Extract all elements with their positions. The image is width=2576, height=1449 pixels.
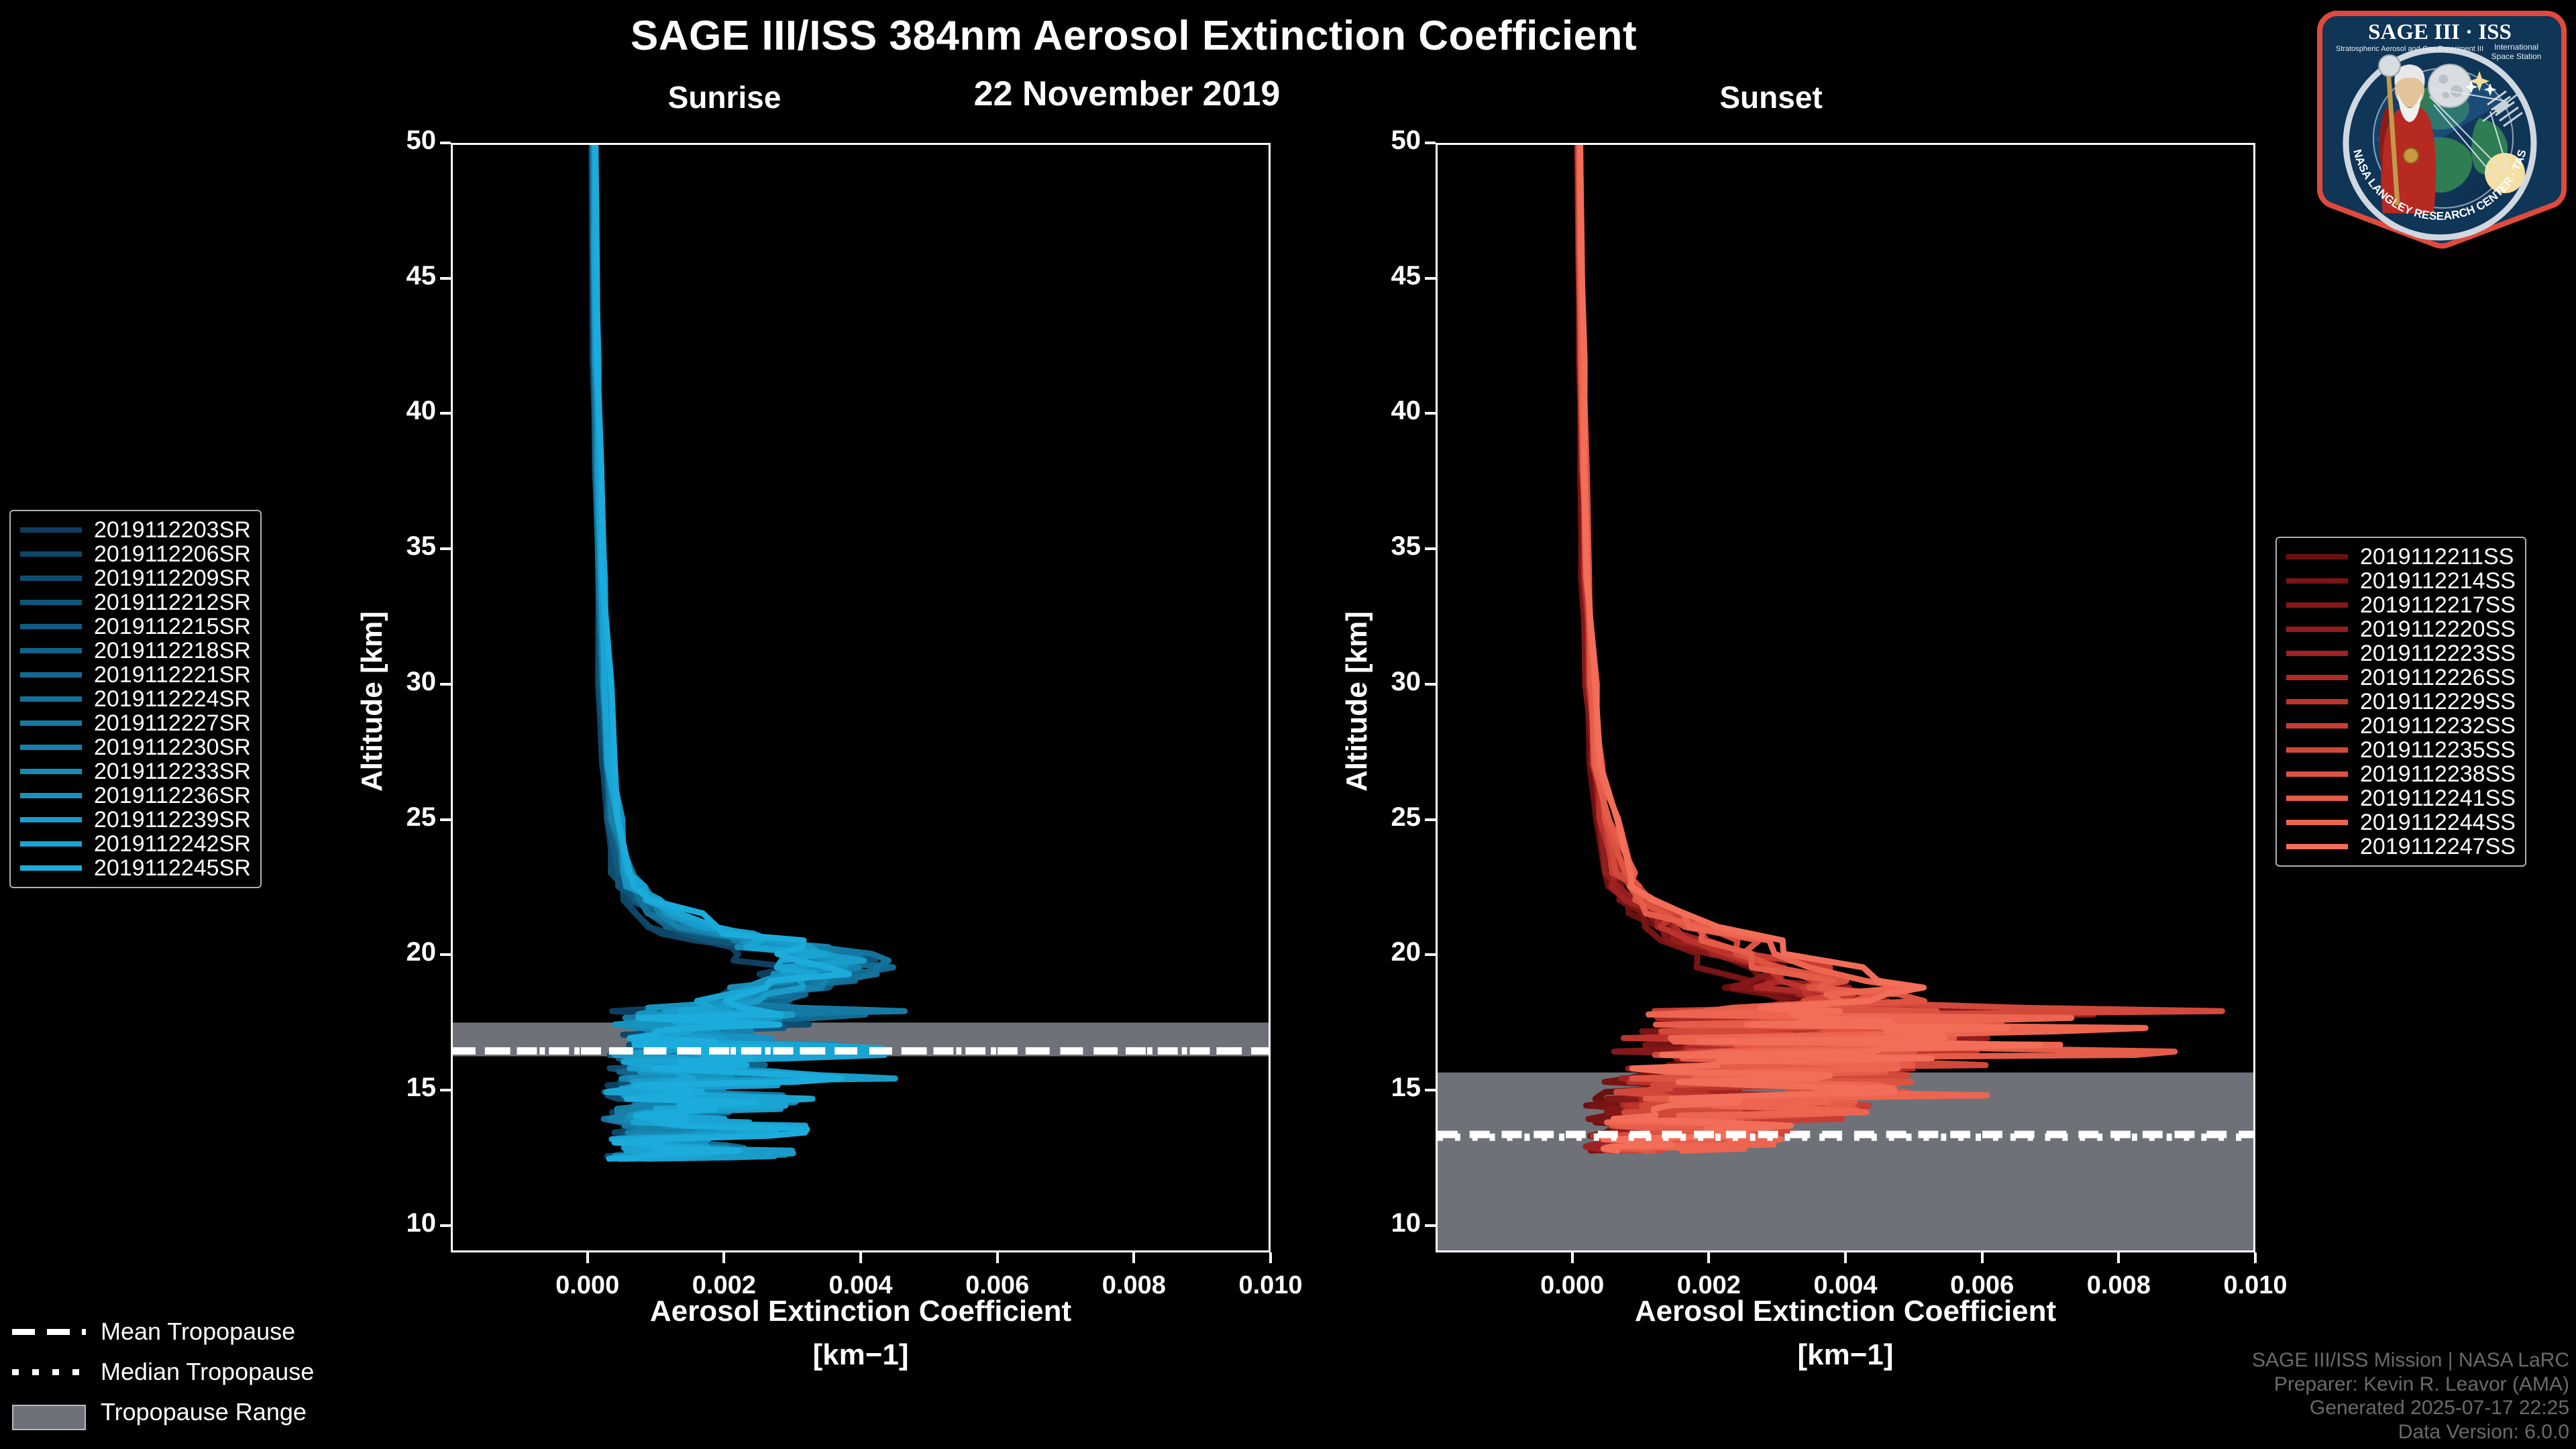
legend-color-swatch (2286, 554, 2348, 559)
sunrise-legend-item[interactable]: 2019112242SR (20, 832, 251, 856)
sunrise-legend[interactable]: 2019112203SR2019112206SR2019112209SR2019… (9, 510, 262, 888)
legend-color-swatch (2286, 747, 2348, 753)
sunset-legend-item[interactable]: 2019112244SS (2286, 810, 2516, 835)
legend-item-label: 2019112206SR (94, 541, 251, 568)
sunset-y-tick-mark (1425, 818, 1436, 821)
legend-item-label: 2019112226SS (2360, 665, 2516, 691)
sunset-y-tick-mark (1425, 142, 1436, 144)
sunrise-legend-item[interactable]: 2019112245SR (20, 856, 251, 880)
sunrise-legend-item[interactable]: 2019112212SR (20, 590, 251, 614)
sunrise-legend-item[interactable]: 2019112215SR (20, 614, 251, 639)
sunrise-y-tick-label: 35 (356, 531, 436, 561)
sunrise-y-tick-mark (440, 412, 451, 415)
sunrise-x-tick-mark (722, 1252, 725, 1263)
sunrise-y-tick-mark (440, 277, 451, 280)
legend-color-swatch (2286, 651, 2348, 656)
sunrise-y-tick-mark (440, 142, 451, 144)
sunrise-y-tick-label: 45 (356, 261, 436, 291)
sunrise-y-tick-mark (440, 1089, 451, 1091)
legend-item-label: 2019112217SS (2360, 592, 2516, 619)
sunset-plot-panel (1436, 143, 2255, 1252)
legend-color-swatch (20, 696, 82, 702)
legend-item-label: 2019112235SS (2360, 737, 2516, 763)
sunset-plot-canvas (1438, 145, 2253, 1250)
sunset-legend-item[interactable]: 2019112247SS (2286, 835, 2516, 859)
sunset-y-tick-label: 20 (1340, 937, 1421, 967)
logo-subtitle-right-2: Space Station (2491, 52, 2542, 61)
legend-color-swatch (20, 527, 82, 533)
sunset-legend-item[interactable]: 2019112238SS (2286, 762, 2516, 786)
sunset-legend-item[interactable]: 2019112226SS (2286, 665, 2516, 690)
sage-iii-iss-mission-patch-logo: SAGE III · ISS Stratospheric Aerosol and… (2312, 4, 2568, 250)
sunrise-plot-canvas (453, 145, 1269, 1250)
sunset-y-tick-label: 45 (1340, 261, 1421, 291)
sunrise-y-tick-label: 50 (356, 125, 436, 156)
page-subtitle: 22 November 2019 (792, 74, 1462, 114)
legend-item-label: 2019112236SR (94, 783, 251, 809)
legend-item-label: 2019112247SS (2360, 834, 2516, 860)
legend-item-label: 2019112232SS (2360, 713, 2516, 739)
legend-color-swatch (20, 817, 82, 822)
legend-color-swatch (20, 745, 82, 750)
sunrise-y-tick-mark (440, 1224, 451, 1227)
legend-color-swatch (20, 841, 82, 847)
legend-item-label: 2019112242SR (94, 831, 251, 857)
legend-item-label: 2019112221SR (94, 662, 251, 688)
sunset-y-tick-label: 15 (1340, 1073, 1421, 1103)
sunset-legend[interactable]: 2019112211SS2019112214SS2019112217SS2019… (2275, 537, 2526, 867)
sunrise-x-tick-mark (1132, 1252, 1135, 1263)
legend-item-label: 2019112212SR (94, 590, 251, 616)
legend-color-swatch (2286, 578, 2348, 584)
tropopause-legend-swatch (12, 1403, 86, 1421)
sunrise-y-tick-mark (440, 818, 451, 821)
legend-item-label: 2019112215SR (94, 614, 251, 640)
sunset-legend-item[interactable]: 2019112214SS (2286, 569, 2516, 593)
sunset-y-tick-mark (1425, 953, 1436, 956)
sunset-y-tick-label: 50 (1340, 125, 1421, 156)
legend-color-swatch (2286, 771, 2348, 777)
sunrise-legend-item[interactable]: 2019112227SR (20, 711, 251, 735)
tropopause-legend-label: Mean Tropopause (101, 1318, 295, 1346)
legend-item-label: 2019112220SS (2360, 616, 2516, 643)
legend-color-swatch (2286, 844, 2348, 849)
sunset-legend-item[interactable]: 2019112211SS (2286, 545, 2516, 569)
legend-color-swatch (2286, 627, 2348, 632)
tropopause-legend-label: Median Tropopause (101, 1358, 314, 1386)
sunrise-legend-item[interactable]: 2019112209SR (20, 566, 251, 590)
legend-item-label: 2019112239SR (94, 807, 251, 833)
legend-item-label: 2019112229SS (2360, 689, 2516, 715)
legend-item-label: 2019112224SR (94, 686, 251, 712)
credits-block: SAGE III/ISS Mission | NASA LaRC Prepare… (2252, 1348, 2569, 1444)
sunset-legend-item[interactable]: 2019112232SS (2286, 714, 2516, 738)
sunrise-legend-item[interactable]: 2019112236SR (20, 784, 251, 808)
sunset-y-tick-mark (1425, 547, 1436, 550)
sunrise-y-tick-mark (440, 953, 451, 956)
logo-title: SAGE III · ISS (2368, 20, 2512, 44)
legend-color-swatch (2286, 723, 2348, 729)
tropopause-legend-item: Mean Tropopause (12, 1311, 314, 1352)
sunset-panel-label: Sunset (1637, 79, 1905, 115)
sunset-x-tick-mark (1844, 1252, 1847, 1263)
sunset-legend-item[interactable]: 2019112229SS (2286, 690, 2516, 714)
sunset-y-axis-label: Altitude [km] (1340, 611, 1374, 792)
sunset-x-tick-mark (2117, 1252, 2120, 1263)
legend-color-swatch (20, 624, 82, 629)
sunset-legend-item[interactable]: 2019112241SS (2286, 786, 2516, 810)
sunset-y-tick-mark (1425, 1089, 1436, 1091)
sunrise-y-tick-mark (440, 683, 451, 686)
legend-color-swatch (2286, 602, 2348, 608)
sunset-y-tick-label: 30 (1340, 667, 1421, 697)
tropopause-legend-item: Median Tropopause (12, 1352, 314, 1392)
sunrise-x-tick-mark (996, 1252, 999, 1263)
sunrise-panel-label: Sunrise (590, 79, 859, 115)
legend-item-label: 2019112233SR (94, 759, 251, 785)
legend-item-label: 2019112223SS (2360, 641, 2516, 667)
sunrise-plot-panel (451, 143, 1271, 1252)
sunset-legend-item[interactable]: 2019112220SS (2286, 617, 2516, 641)
tropopause-legend-swatch (12, 1363, 86, 1381)
sunrise-x-tick-mark (1269, 1252, 1272, 1263)
sunset-y-tick-label: 25 (1340, 802, 1421, 833)
sunset-y-tick-mark (1425, 1224, 1436, 1227)
legend-item-label: 2019112218SR (94, 638, 251, 664)
sunrise-y-axis-label: Altitude [km] (356, 611, 389, 792)
sunset-x-tick-mark (1571, 1252, 1574, 1263)
credits-line-preparer: Preparer: Kevin R. Leavor (AMA) (2252, 1373, 2569, 1396)
credits-line-generated: Generated 2025-07-17 22:25 (2252, 1396, 2569, 1419)
sunset-y-tick-mark (1425, 412, 1436, 415)
sunrise-x-axis-unit: [km−1] (451, 1338, 1271, 1372)
sunrise-y-tick-label: 25 (356, 802, 436, 833)
tropopause-legend-label: Tropopause Range (101, 1398, 307, 1426)
sunset-y-tick-mark (1425, 683, 1436, 686)
legend-color-swatch (2286, 699, 2348, 704)
legend-item-label: 2019112211SS (2360, 544, 2514, 570)
sunset-y-tick-mark (1425, 277, 1436, 280)
sunrise-legend-item[interactable]: 2019112230SR (20, 735, 251, 759)
sunrise-legend-item[interactable]: 2019112218SR (20, 639, 251, 663)
legend-item-label: 2019112227SR (94, 710, 251, 737)
legend-color-swatch (20, 648, 82, 653)
sunrise-x-tick-mark (859, 1252, 862, 1263)
sunrise-legend-item[interactable]: 2019112224SR (20, 687, 251, 711)
legend-item-label: 2019112241SS (2360, 786, 2516, 812)
page-title: SAGE III/ISS 384nm Aerosol Extinction Co… (0, 12, 2267, 60)
legend-item-label: 2019112245SR (94, 855, 251, 881)
sunrise-y-tick-label: 20 (356, 937, 436, 967)
legend-color-swatch (20, 720, 82, 726)
legend-color-swatch (2286, 796, 2348, 801)
sunset-x-tick-mark (2254, 1252, 2257, 1263)
legend-color-swatch (20, 672, 82, 678)
sunrise-x-tick-mark (586, 1252, 589, 1263)
legend-color-swatch (20, 793, 82, 798)
tropopause-legend-swatch (12, 1323, 86, 1340)
legend-item-label: 2019112209SR (94, 566, 251, 592)
legend-color-swatch (20, 576, 82, 581)
legend-color-swatch (20, 865, 82, 871)
logo-subtitle-left: Stratospheric Aerosol and Gas Experiment… (2336, 45, 2483, 53)
sunrise-legend-item[interactable]: 2019112239SR (20, 808, 251, 832)
dashed-marker-icon (12, 1329, 86, 1335)
credits-line-version: Data Version: 6.0.0 (2252, 1420, 2569, 1444)
sunrise-legend-item[interactable]: 2019112233SR (20, 759, 251, 784)
sunrise-x-axis-label: Aerosol Extinction Coefficient (451, 1295, 1271, 1328)
sunrise-legend-item[interactable]: 2019112203SR (20, 518, 251, 542)
legend-item-label: 2019112214SS (2360, 568, 2516, 594)
sunset-x-axis-label: Aerosol Extinction Coefficient (1436, 1295, 2255, 1328)
legend-color-swatch (20, 769, 82, 774)
sunset-legend-item[interactable]: 2019112223SS (2286, 641, 2516, 665)
sunset-x-tick-mark (1981, 1252, 1984, 1263)
sunrise-y-tick-label: 40 (356, 396, 436, 426)
sunrise-y-tick-label: 15 (356, 1073, 436, 1103)
filled-range-marker-icon (12, 1405, 86, 1430)
sunrise-y-tick-mark (440, 547, 451, 550)
legend-color-swatch (2286, 675, 2348, 680)
sunrise-y-tick-label: 30 (356, 667, 436, 697)
legend-item-label: 2019112230SR (94, 735, 251, 761)
sunset-legend-item[interactable]: 2019112235SS (2286, 738, 2516, 762)
credits-line-mission: SAGE III/ISS Mission | NASA LaRC (2252, 1348, 2569, 1372)
legend-color-swatch (2286, 820, 2348, 825)
tropopause-legend-item: Tropopause Range (12, 1392, 314, 1432)
sunrise-legend-item[interactable]: 2019112221SR (20, 663, 251, 687)
sunrise-y-tick-label: 10 (356, 1208, 436, 1238)
legend-item-label: 2019112238SS (2360, 761, 2516, 788)
sunrise-legend-item[interactable]: 2019112206SR (20, 542, 251, 566)
tropopause-legend: Mean TropopauseMedian TropopauseTropopau… (12, 1311, 314, 1432)
legend-item-label: 2019112203SR (94, 517, 251, 543)
legend-color-swatch (20, 600, 82, 605)
dotted-marker-icon (12, 1369, 86, 1375)
sunset-y-tick-label: 35 (1340, 531, 1421, 561)
logo-subtitle-right-1: International (2494, 42, 2538, 52)
legend-item-label: 2019112244SS (2360, 810, 2516, 836)
sunset-x-tick-mark (1707, 1252, 1710, 1263)
sunset-legend-item[interactable]: 2019112217SS (2286, 593, 2516, 617)
legend-color-swatch (20, 551, 82, 557)
sunset-x-axis-unit: [km−1] (1436, 1338, 2255, 1372)
sunset-y-tick-label: 10 (1340, 1208, 1421, 1238)
sunset-y-tick-label: 40 (1340, 396, 1421, 426)
